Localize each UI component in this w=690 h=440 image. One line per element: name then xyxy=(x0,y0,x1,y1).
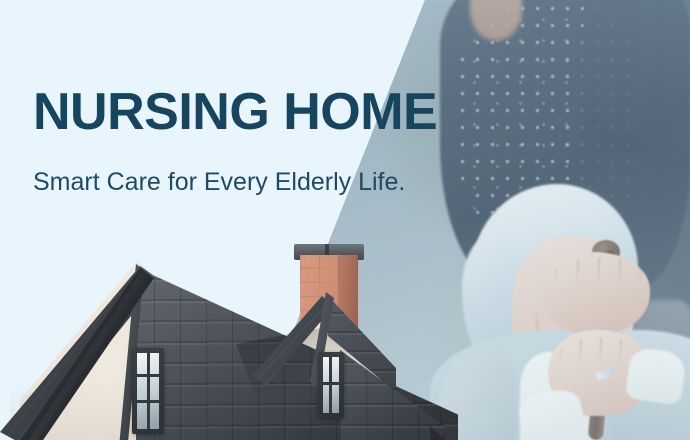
nursing-home-banner: NURSING HOME Smart Care for Every Elderl… xyxy=(0,0,690,440)
window-mullion-vertical xyxy=(329,357,332,413)
house-illustration xyxy=(0,230,470,440)
window-mullion-vertical xyxy=(147,353,150,429)
window-mullion-horizontal xyxy=(137,374,159,377)
page-subtitle: Smart Care for Every Elderly Life. xyxy=(33,170,405,195)
window-mullion-horizontal xyxy=(323,382,339,385)
house-window-left xyxy=(132,348,164,434)
page-title: NURSING HOME xyxy=(33,86,437,138)
house-window-dormer xyxy=(318,352,344,418)
window-mullion-horizontal xyxy=(137,400,159,403)
